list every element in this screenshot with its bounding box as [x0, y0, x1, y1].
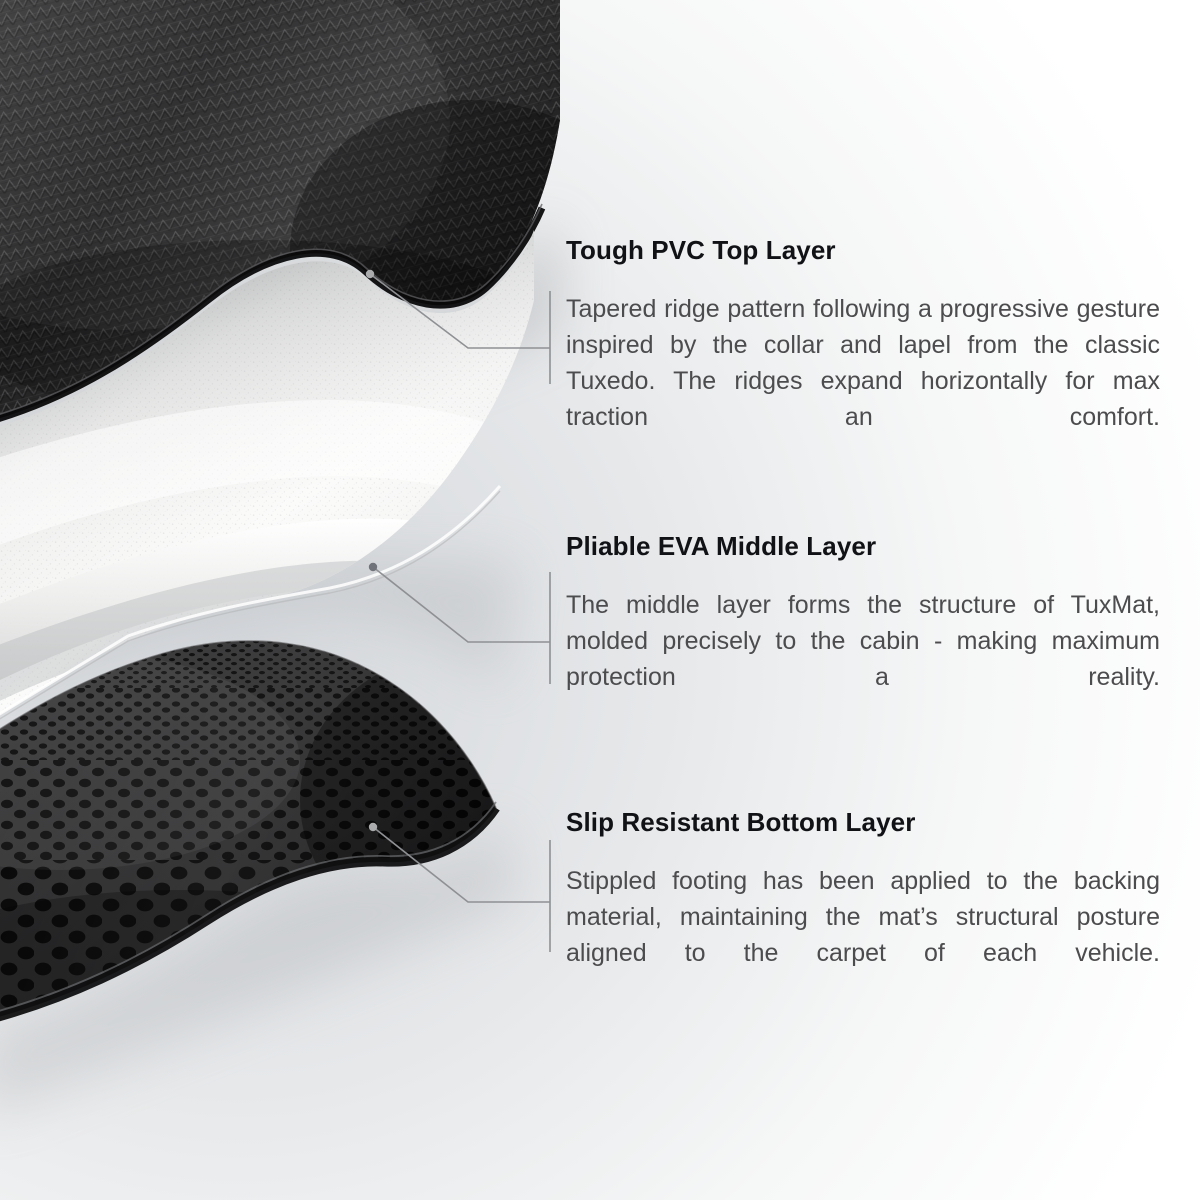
callout-heading-middle-layer: Pliable EVA Middle Layer	[566, 532, 1160, 561]
callout-heading-bottom-layer: Slip Resistant Bottom Layer	[566, 808, 1160, 837]
callout-heading-top-layer: Tough PVC Top Layer	[566, 236, 1160, 265]
callout-body-top-layer: Tapered ridge pattern following a progre…	[566, 291, 1160, 471]
callout-bottom-layer: Slip Resistant Bottom Layer Stippled foo…	[566, 808, 1160, 1007]
callout-middle-layer: Pliable EVA Middle Layer The middle laye…	[566, 532, 1160, 731]
callout-body-middle-layer: The middle layer forms the structure of …	[566, 587, 1160, 731]
layer-construction-diagram: Tough PVC Top Layer Tapered ridge patter…	[0, 0, 1200, 1200]
callout-top-layer: Tough PVC Top Layer Tapered ridge patter…	[566, 236, 1160, 471]
callout-text-column: Tough PVC Top Layer Tapered ridge patter…	[0, 0, 1200, 1200]
callout-body-bottom-layer: Stippled footing has been applied to the…	[566, 863, 1160, 1007]
